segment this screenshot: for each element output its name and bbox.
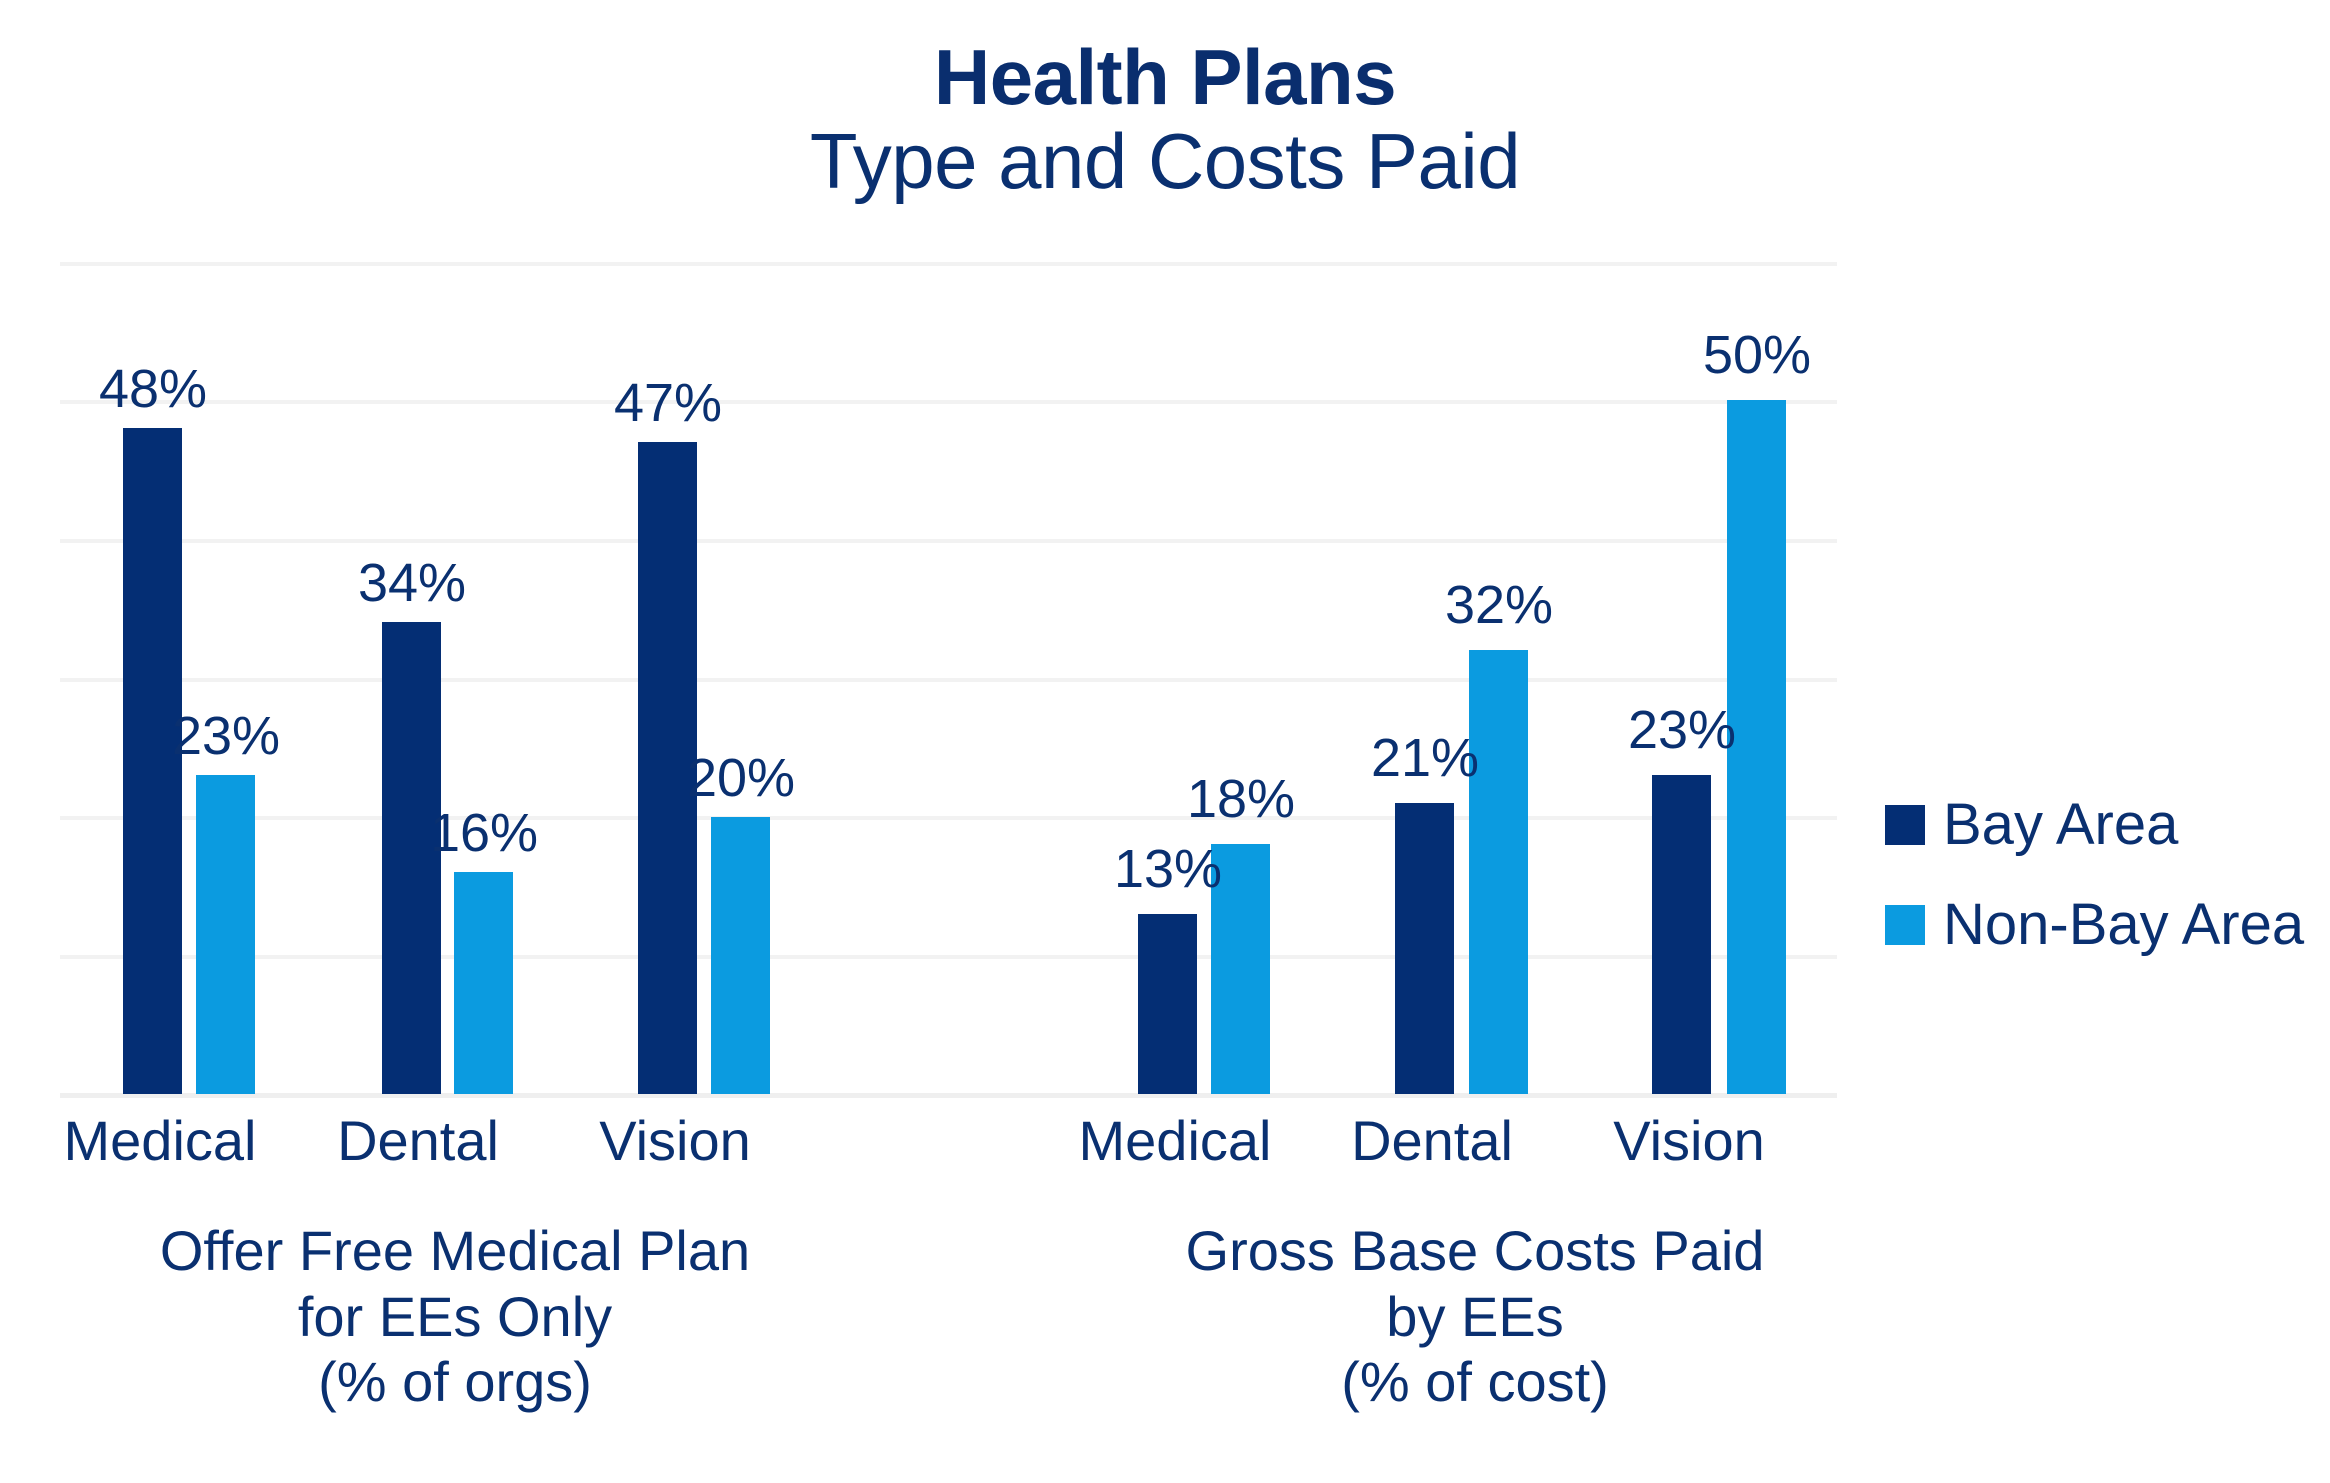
gridline-10	[60, 955, 1837, 959]
category-label-panel2-medical: Medical	[1045, 1110, 1305, 1172]
gridline-30	[60, 678, 1837, 682]
data-label-panel1-dental-nonbay: 16%	[404, 806, 564, 860]
panel1-caption-line-1: Offer Free Medical Plan	[60, 1218, 850, 1284]
bar-panel1-medical-nonbay[interactable]	[196, 775, 255, 1094]
gridline-40	[60, 539, 1837, 543]
slide-canvas: Health Plans Type and Costs Paid	[0, 0, 2330, 1483]
data-label-panel2-dental-bay: 21%	[1345, 731, 1505, 785]
data-label-panel1-vision-bay: 47%	[588, 376, 748, 430]
bar-panel1-dental-nonbay[interactable]	[454, 872, 513, 1094]
category-label-panel1-medical: Medical	[30, 1110, 290, 1172]
bar-panel2-medical-bay[interactable]	[1138, 914, 1197, 1094]
data-label-panel2-medical-nonbay: 18%	[1161, 772, 1321, 826]
gridline-20	[60, 816, 1837, 820]
panel2-caption: Gross Base Costs Paid by EEs (% of cost)	[1080, 1218, 1870, 1415]
panel2-caption-line-1: Gross Base Costs Paid	[1080, 1218, 1870, 1284]
category-label-panel2-vision: Vision	[1559, 1110, 1819, 1172]
data-label-panel1-medical-bay: 48%	[73, 362, 233, 416]
panel1-caption-line-2: for EEs Only	[60, 1284, 850, 1350]
panel1-caption-line-3: (% of orgs)	[60, 1349, 850, 1415]
data-label-panel2-medical-bay: 13%	[1088, 842, 1248, 896]
category-label-panel2-dental: Dental	[1302, 1110, 1562, 1172]
data-label-panel1-vision-nonbay: 20%	[661, 751, 821, 805]
data-label-panel1-medical-nonbay: 23%	[146, 709, 306, 763]
legend-item-non-bay-area[interactable]: Non-Bay Area	[1885, 875, 2304, 975]
category-label-panel1-dental: Dental	[288, 1110, 548, 1172]
bar-panel2-vision-bay[interactable]	[1652, 775, 1711, 1094]
plot-area: 48% 23% 34% 16% 47% 20% 13% 18% 21% 32% …	[60, 262, 1837, 1094]
gridline-60	[60, 262, 1837, 266]
legend-item-bay-area[interactable]: Bay Area	[1885, 775, 2304, 875]
gridline-50	[60, 400, 1837, 404]
legend-label-bay-area: Bay Area	[1943, 796, 2178, 854]
panel2-caption-line-3: (% of cost)	[1080, 1349, 1870, 1415]
panel1-caption: Offer Free Medical Plan for EEs Only (% …	[60, 1218, 850, 1415]
bar-panel2-dental-nonbay[interactable]	[1469, 650, 1528, 1094]
page-subtitle: Type and Costs Paid	[0, 118, 2330, 205]
bar-panel1-vision-nonbay[interactable]	[711, 817, 770, 1094]
category-axis-line	[60, 1093, 1837, 1098]
data-label-panel2-vision-nonbay: 50%	[1677, 328, 1837, 382]
legend-swatch-non-bay-area-icon	[1885, 905, 1925, 945]
data-label-panel2-dental-nonbay: 32%	[1419, 578, 1579, 632]
chart-legend: Bay Area Non-Bay Area	[1885, 775, 2304, 975]
bar-panel2-dental-bay[interactable]	[1395, 803, 1454, 1094]
title-block: Health Plans Type and Costs Paid	[0, 38, 2330, 205]
page-title: Health Plans	[0, 38, 2330, 118]
legend-swatch-bay-area-icon	[1885, 805, 1925, 845]
data-label-panel2-vision-bay: 23%	[1602, 703, 1762, 757]
category-label-panel1-vision: Vision	[545, 1110, 805, 1172]
panel2-caption-line-2: by EEs	[1080, 1284, 1870, 1350]
data-label-panel1-dental-bay: 34%	[332, 556, 492, 610]
legend-label-non-bay-area: Non-Bay Area	[1943, 896, 2304, 954]
